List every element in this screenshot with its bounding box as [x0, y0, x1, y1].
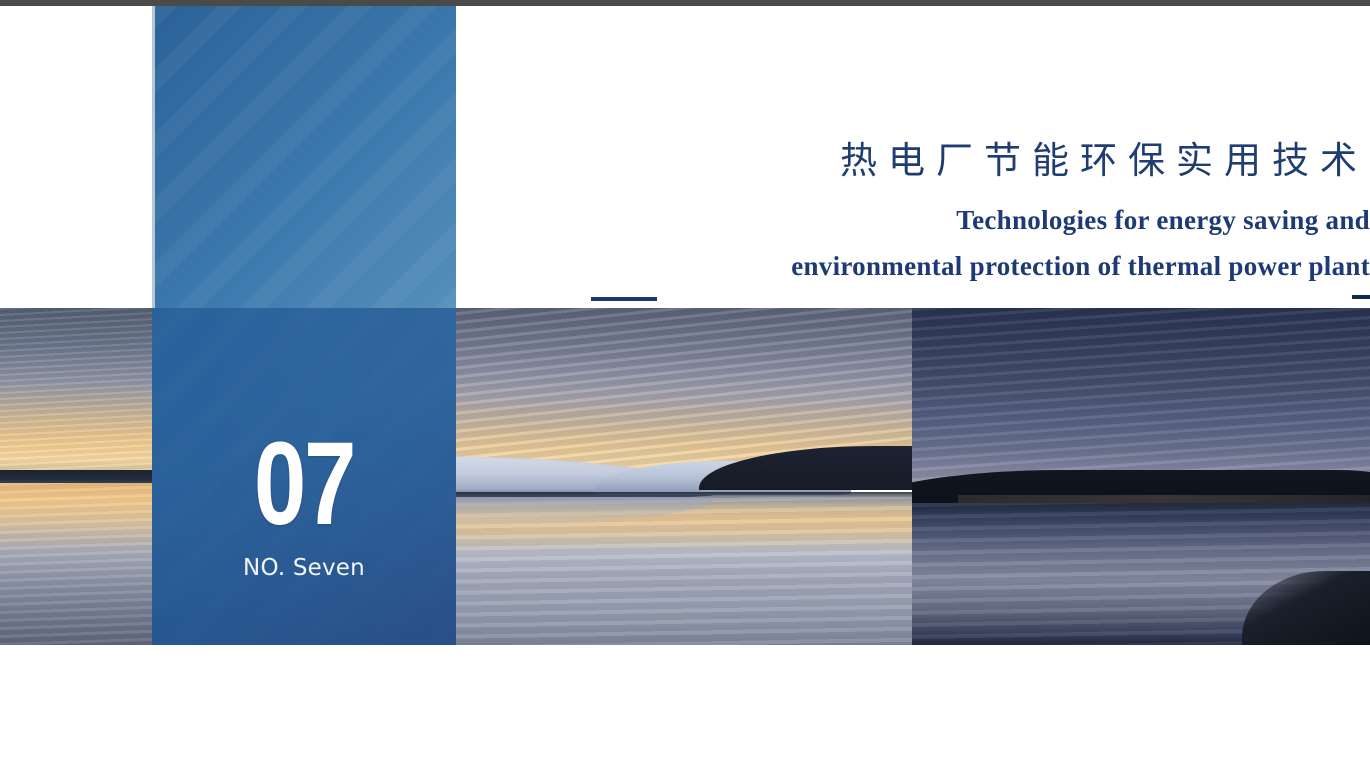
presentation-slide: 07 NO. Seven 热电厂节能环保实用技术 Technologies fo… — [0, 0, 1370, 775]
bottom-margin — [0, 645, 1370, 775]
title-rule-right — [1352, 295, 1370, 299]
photo-segment-left — [0, 308, 152, 645]
page-subtitle-english-line1: Technologies for energy saving and — [520, 197, 1370, 243]
panel-left-edge — [152, 6, 155, 308]
sky-left — [0, 308, 152, 473]
title-rule-left — [591, 297, 657, 301]
page-subtitle-english-line2: environmental protection of thermal powe… — [520, 243, 1370, 289]
water-left — [0, 483, 152, 645]
title-block: 热电厂节能环保实用技术 Technologies for energy savi… — [520, 140, 1370, 289]
lake-dusk-scene-right — [912, 308, 1370, 645]
blue-accent-panel-overlay — [152, 308, 456, 645]
lake-sunset-scene-left — [0, 308, 152, 645]
sky-right — [912, 308, 1370, 490]
page-title-chinese: 热电厂节能环保实用技术 — [520, 140, 1370, 183]
photo-segment-right — [912, 308, 1370, 645]
top-accent-bar — [0, 0, 1370, 6]
shoreline-left — [0, 470, 152, 483]
